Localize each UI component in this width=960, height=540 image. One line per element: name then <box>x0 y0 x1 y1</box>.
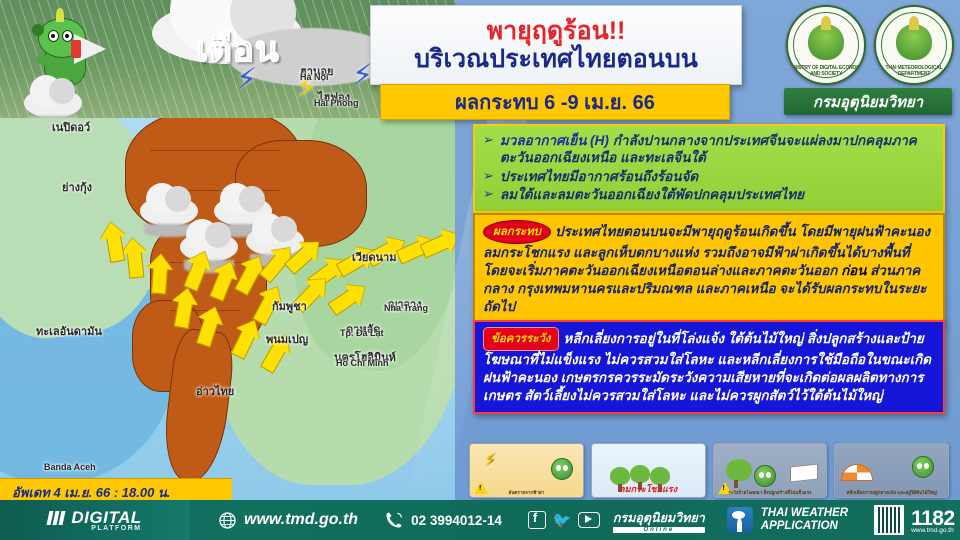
map-label: Hồ Chí Minh <box>336 358 389 368</box>
impact-badge: ผลกระทบ <box>483 220 551 244</box>
facebook-icon[interactable] <box>528 511 546 529</box>
map-label: อ่าวไทย <box>196 382 234 400</box>
mascot-icon <box>754 465 776 487</box>
date-banner: ผลกระทบ 6 -9 เม.ย. 66 <box>380 84 730 120</box>
advice-card-shelter: หลีกเลี่ยงการอยู่กลางแจ้ง และอยู่ใต้ต้นไ… <box>834 443 949 498</box>
synopsis-text: ลมใต้และลมตะวันออกเฉียงใต้พัดปกคลุมประเท… <box>500 186 804 203</box>
thai-weather-app-icon[interactable] <box>727 507 753 533</box>
advice-card-lightning: ⚡ อันตรายจากฟ้าผ่า <box>469 443 584 498</box>
ministry-seal-icon: MINISTRY OF DIGITAL ECONOMY AND SOCIETY <box>786 5 866 85</box>
social-links[interactable]: 🐦 กรมอุตุนิยมวิทยา Online <box>528 508 705 533</box>
weather-warning-infographic: H ⚡ ⚡ ⚡ เตือ <box>0 0 960 540</box>
advice-card-signboard: ระวังป้ายโฆษณา สิ่งปลูกสร้างที่ไม่แข็งแร… <box>713 443 828 498</box>
social-handle: กรมอุตุนิยมวิทยา Online <box>613 508 705 533</box>
map-label: Hải Phòng <box>314 98 359 108</box>
logo-group: MINISTRY OF DIGITAL ECONOMY AND SOCIETY … <box>779 2 954 88</box>
warning-word: เตือน <box>196 22 280 77</box>
date-banner-text: ผลกระทบ 6 -9 เม.ย. 66 <box>455 86 655 118</box>
advice-caption: ลมกระโชกแรง <box>595 485 702 495</box>
globe-icon <box>218 511 237 530</box>
info-panel: MINISTRY OF DIGITAL ECONOMY AND SOCIETY … <box>455 0 960 505</box>
qr-code[interactable] <box>874 505 904 535</box>
tmd-seal-icon: THAI METEOROLOGICAL DEPARTMENT <box>874 5 954 85</box>
map-label: Banda Aceh <box>44 462 96 472</box>
bullet-icon: ➢ <box>483 168 494 185</box>
caution-badge: ข้อควรระวัง <box>483 327 559 351</box>
phone-icon <box>384 510 404 530</box>
hotline-sub: www.tmd.go.th <box>911 527 955 534</box>
caution-box: ข้อควรระวังหลีกเลี่ยงการอยู่ในที่โล่งแจ้… <box>473 320 945 414</box>
advice-caption: หลีกเลี่ยงการอยู่กลางแจ้ง และอยู่ใต้ต้นไ… <box>838 490 945 495</box>
advice-card-wind: ลมกระโชกแรง <box>591 443 706 498</box>
website-link[interactable]: www.tmd.go.th <box>218 511 358 530</box>
title-line-2: บริเวณประเทศไทยตอนบน <box>414 46 698 72</box>
synopsis-item: ➢ ประเทศไทยมีอากาศร้อนถึงร้อนจัด <box>483 168 935 185</box>
youtube-icon[interactable] <box>578 512 600 528</box>
map-label: พนมเปญ <box>266 330 308 348</box>
advice-caption: ระวังป้ายโฆษณา สิ่งปลูกสร้างที่ไม่แข็งแร… <box>717 490 824 495</box>
lightning-icon: ⚡ <box>484 450 496 470</box>
map-label: กัมพูชา <box>272 297 307 315</box>
bullet-icon: ➢ <box>483 132 494 167</box>
logo-bars-icon <box>48 511 66 530</box>
map-label: เนปิดอว์ <box>52 118 90 136</box>
wind-arrow <box>151 266 168 295</box>
department-name: กรมอุตุนิยมวิทยา <box>813 90 923 114</box>
map-label: Tp. Đà Lạt <box>340 328 384 338</box>
title-banner: พายุฤดูร้อน!! บริเวณประเทศไทยตอนบน <box>370 5 742 85</box>
app-line-2: APPLICATION <box>761 520 848 533</box>
twitter-icon[interactable]: 🐦 <box>553 513 571 528</box>
impact-bold-word: ก่อน <box>841 263 866 278</box>
footer-bar: DIGITAL PLATFORM www.tmd.go.th 02 399401… <box>0 500 960 540</box>
bullet-icon: ➢ <box>483 186 494 203</box>
synopsis-box: ➢ มวลอากาศเย็น (H) กำลังปานกลางจากประเทศ… <box>473 124 945 213</box>
thai-weather-app-label: THAI WEATHER APPLICATION <box>761 507 848 533</box>
mascot-icon <box>551 458 573 480</box>
ministry-seal-text: MINISTRY OF DIGITAL ECONOMY AND SOCIETY <box>788 65 864 77</box>
phone-text: 02 3994012-14 <box>411 513 502 528</box>
phone-contact[interactable]: 02 3994012-14 <box>384 510 502 530</box>
advice-card-row: ⚡ อันตรายจากฟ้าผ่า ลมกระโชกแรง ระวังป้าย… <box>469 443 949 498</box>
synopsis-highlight: มวลอากาศเย็น (H) <box>500 133 609 148</box>
social-handle-sub: Online <box>613 527 705 533</box>
map-label: เวียดนาม <box>352 248 396 266</box>
digital-platform-logo: DIGITAL PLATFORM <box>0 500 190 540</box>
synopsis-text: ประเทศไทยมีอากาศร้อนถึงร้อนจัด <box>500 168 698 185</box>
map-label: Hà Nội <box>300 72 329 82</box>
map-label: ทะเลอันดามัน <box>36 322 102 340</box>
social-handle-text: กรมอุตุนิยมวิทยา <box>613 511 705 525</box>
map-label: ย่างกุ้ง <box>62 178 92 196</box>
storm-cloud-icon <box>140 196 198 226</box>
advice-caption: อันตรายจากฟ้าผ่า <box>473 490 580 495</box>
umbrella-icon <box>841 464 873 481</box>
title-line-1: พายุฤดูร้อน!! <box>487 18 626 44</box>
tmd-seal-text: THAI METEOROLOGICAL DEPARTMENT <box>876 65 952 77</box>
department-tag: กรมอุตุนิยมวิทยา <box>784 88 952 115</box>
synopsis-item: ➢ มวลอากาศเย็น (H) กำลังปานกลางจากประเทศ… <box>483 132 935 167</box>
hotline: 1182 www.tmd.go.th <box>911 507 955 534</box>
website-text: www.tmd.go.th <box>244 511 358 529</box>
mascot-icon <box>912 456 934 478</box>
map-label: Nha Trang <box>384 303 428 313</box>
mascot-cloud-icon <box>24 88 82 118</box>
wind-arrow <box>127 249 145 278</box>
impact-box: ผลกระทบประเทศไทยตอนบนจะมีพายุฤดูร้อนเกิด… <box>473 213 945 325</box>
synopsis-item: ➢ ลมใต้และลมตะวันออกเฉียงใต้พัดปกคลุมประ… <box>483 186 935 203</box>
app-line-1: THAI WEATHER <box>761 507 848 520</box>
signboard-icon <box>790 464 818 483</box>
